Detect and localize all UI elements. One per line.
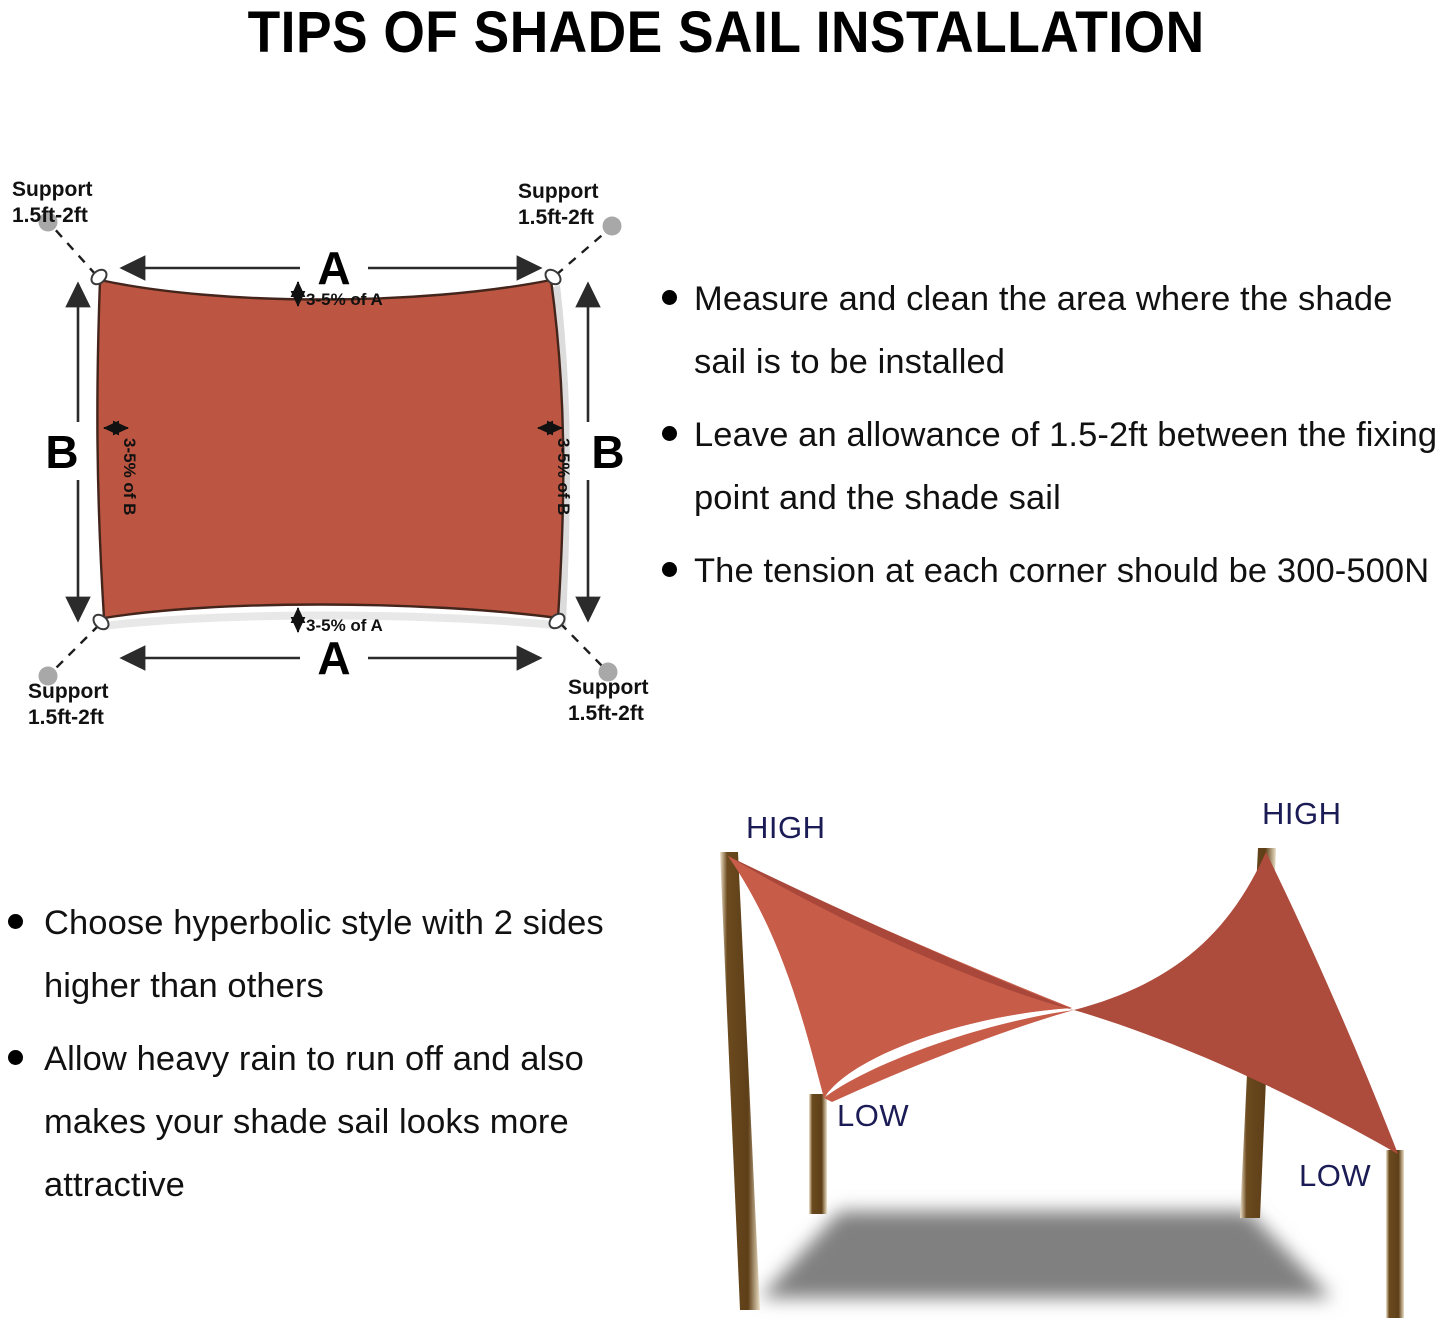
post-label-low-right: LOW: [1299, 1158, 1371, 1193]
post-low-right: [1386, 1150, 1404, 1318]
post-high-left: [720, 852, 760, 1310]
dimension-a-top: A: [122, 242, 540, 294]
list-item-label: Measure and clean the area where the sha…: [694, 268, 1452, 394]
bullet-dot-icon: [8, 914, 23, 929]
post-label-low-left: LOW: [837, 1098, 909, 1133]
support-label-line2: 1.5ft-2ft: [518, 206, 594, 229]
dimension-label-a-bottom: A: [317, 632, 350, 684]
list-item-label: Leave an allowance of 1.5-2ft between th…: [694, 404, 1452, 530]
support-label-line1: Support: [12, 178, 92, 201]
support-label-line2: 1.5ft-2ft: [28, 706, 104, 729]
support-label-top-left: Support 1.5ft-2ft: [12, 178, 92, 227]
support-label-bottom-left: Support 1.5ft-2ft: [28, 680, 108, 729]
dimension-a-bottom: A: [122, 632, 540, 684]
dimension-b-right: B: [588, 284, 625, 620]
post-low-left: [809, 1094, 827, 1214]
support-label-line1: Support: [28, 680, 108, 703]
page-title: TIPS OF SHADE SAIL INSTALLATION: [248, 3, 1205, 63]
list-item: The tension at each corner should be 300…: [648, 540, 1452, 603]
curve-note-bottom-label: 3-5% of A: [306, 616, 383, 635]
installation-tips-list: Measure and clean the area where the sha…: [648, 268, 1452, 613]
support-label-line1: Support: [518, 180, 598, 203]
post-label-high-left: HIGH: [746, 810, 826, 845]
dimension-label-b-right: B: [591, 426, 624, 478]
support-label-line2: 1.5ft-2ft: [12, 204, 88, 227]
dimension-b-left: B: [45, 284, 78, 620]
curve-note-left-label: 3-5% of B: [120, 438, 139, 515]
list-item: Choose hyperbolic style with 2 sides hig…: [0, 892, 620, 1018]
post-label-high-right: HIGH: [1262, 796, 1342, 831]
list-item: Leave an allowance of 1.5-2ft between th…: [648, 404, 1452, 530]
support-label-top-right: Support 1.5ft-2ft: [518, 180, 598, 229]
list-item: Allow heavy rain to run off and also mak…: [0, 1028, 620, 1217]
bullet-dot-icon: [662, 426, 677, 441]
shade-sail-shape: [97, 280, 563, 618]
title-bar: TIPS OF SHADE SAIL INSTALLATION: [0, 0, 1452, 66]
dimension-label-a-top: A: [317, 242, 350, 294]
support-label-line1: Support: [568, 676, 648, 699]
list-item-label: Allow heavy rain to run off and also mak…: [44, 1028, 620, 1217]
support-label-bottom-right: Support 1.5ft-2ft: [568, 676, 648, 725]
rectangular-sail-diagram: Support 1.5ft-2ft Support 1.5ft-2ft Supp…: [0, 160, 660, 740]
curve-note-right-label: 3-5% of B: [554, 438, 573, 515]
support-label-line2: 1.5ft-2ft: [568, 702, 644, 725]
list-item: Measure and clean the area where the sha…: [648, 268, 1452, 394]
bullet-dot-icon: [662, 562, 677, 577]
bullet-dot-icon: [662, 290, 677, 305]
ground-shadow: [760, 1211, 1332, 1298]
dimension-label-b-left: B: [45, 426, 78, 478]
list-item-label: The tension at each corner should be 300…: [694, 540, 1452, 603]
sail-lobe-right: [1074, 852, 1398, 1154]
bullet-dot-icon: [8, 1050, 23, 1065]
hyperbolic-sail-diagram: HIGH HIGH LOW LOW: [672, 786, 1452, 1325]
curve-note-top-label: 3-5% of A: [306, 290, 383, 309]
hyperbolic-tips-list: Choose hyperbolic style with 2 sides hig…: [0, 892, 620, 1227]
list-item-label: Choose hyperbolic style with 2 sides hig…: [44, 892, 620, 1018]
